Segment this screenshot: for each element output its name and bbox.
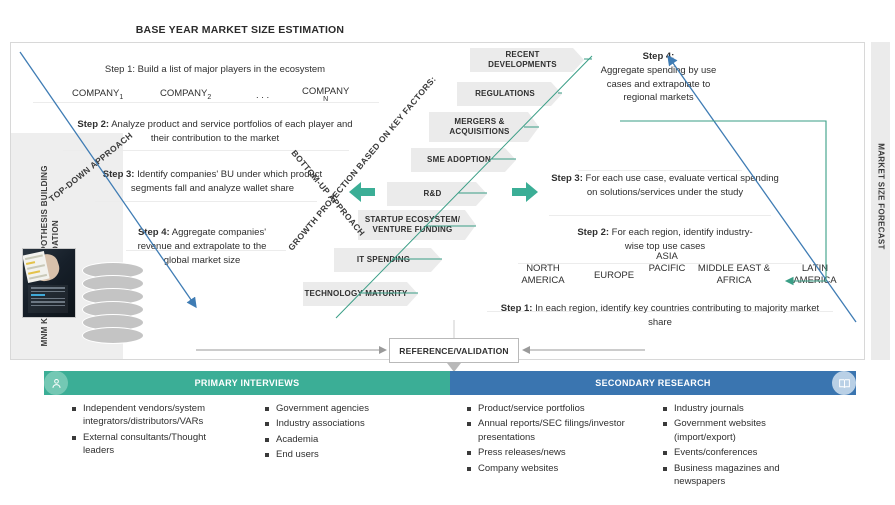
top-down-step1: Step 1: Build a list of major players in… [40,63,390,77]
person-icon [44,371,68,395]
top-down-step4-label: Step 4: [138,227,170,238]
list-item: Independent vendors/system integrators/d… [72,402,237,429]
list-item: External consultants/Thought leaders [72,431,237,458]
factor-chip-technology-maturity[interactable]: TECHNOLOGY MATURITY [303,282,418,306]
list-item: Events/conferences [663,446,828,459]
company-1: COMPANY1 [72,88,123,101]
bottom-up-step2-label: Step 2: [577,227,609,238]
list-item: End users [265,448,430,461]
bottom-up-step4-text: Aggregate spending by use cases and extr… [601,65,717,104]
right-panel-label: MARKET SIZE FORECAST [877,97,886,297]
list-item: Press releases/news [467,446,632,459]
top-down-step2-label: Step 2: [77,119,109,130]
company-list: COMPANY1 COMPANY2 . . . COMPANYN [40,88,390,114]
bottom-up-step1-text: In each region, identify key countries c… [532,303,819,328]
bottom-up-step1-label: Step 1: [501,303,533,314]
list-item: Company websites [467,462,632,475]
top-down-step4: Step 4: Aggregate companies' revenue and… [137,226,267,267]
region-asia-pacific: ASIA PACIFIC [648,251,686,275]
list-item: Government agencies [265,402,430,415]
list-item: Industry associations [265,417,430,430]
reference-validation-box[interactable]: REFERENCE/VALIDATION [389,338,519,363]
bottom-up-step3-text: For each use case, evaluate vertical spe… [583,173,779,198]
top-down-step1-text: Step 1: Build a list of major players in… [105,64,325,75]
primary-col-1-list: Independent vendors/system integrators/d… [72,402,237,458]
primary-interviews-bar[interactable]: PRIMARY INTERVIEWS [44,371,450,395]
region-latin-america: LATIN AMERICA [785,263,845,287]
secondary-col-2-list: Industry journals Government websites (i… [663,402,828,489]
secondary-col-1-list: Product/service portfolios Annual report… [467,402,632,475]
secondary-col-2: Industry journals Government websites (i… [663,402,828,491]
bottom-up-step1: Step 1: In each region, identify key cou… [500,302,820,330]
secondary-col-1: Product/service portfolios Annual report… [467,402,632,477]
page-title: BASE YEAR MARKET SIZE ESTIMATION [0,24,480,36]
top-down-step3: Step 3: Identify companies' BU under whi… [100,168,325,196]
top-down-step3-text: Identify companies' BU under which produ… [131,169,322,194]
region-list: NORTH AMERICA EUROPE ASIA PACIFIC MIDDLE… [455,255,865,295]
book-icon [832,371,856,395]
top-down-step3-label: Step 3: [103,169,135,180]
bottom-up-step3-label: Step 3: [551,173,583,184]
top-down-step2-text: Analyze product and service portfolios o… [109,119,352,144]
secondary-research-bar[interactable]: SECONDARY RESEARCH [450,371,856,395]
company-ellipsis: . . . [256,90,269,101]
bottom-up-step4: Step 4: Aggregate spending by use cases … [591,50,726,105]
top-down-step2: Step 2: Analyze product and service port… [75,118,355,146]
bottom-up-step2-text: For each region, identify industry-wise … [609,227,753,252]
list-item: Product/service portfolios [467,402,632,415]
bottom-up-step4-label: Step 4: [643,51,675,62]
primary-col-2: Government agencies Industry association… [265,402,430,464]
region-europe: EUROPE [583,270,645,282]
secondary-research-title: SECONDARY RESEARCH [595,378,710,388]
company-n: COMPANYN [302,86,349,103]
primary-col-1: Independent vendors/system integrators/d… [72,402,237,460]
list-item: Industry journals [663,402,828,415]
list-item: Annual reports/SEC filings/investor pres… [467,417,632,444]
company-2: COMPANY2 [160,88,211,101]
primary-interviews-title: PRIMARY INTERVIEWS [195,378,300,388]
list-item: Business magazines and newspapers [663,462,828,489]
primary-col-2-list: Government agencies Industry association… [265,402,430,462]
bottom-up-step3: Step 3: For each use case, evaluate vert… [551,172,779,200]
bottom-up-step2: Step 2: For each region, identify indust… [569,226,761,254]
region-middle-east-africa: MIDDLE EAST & AFRICA [688,263,780,287]
right-panel: MARKET SIZE FORECAST [871,42,890,360]
list-item: Government websites (import/export) [663,417,828,444]
region-north-america: NORTH AMERICA [507,263,579,287]
list-item: Academia [265,433,430,446]
diagram-root: BASE YEAR MARKET SIZE ESTIMATION MNM KS … [0,0,895,505]
